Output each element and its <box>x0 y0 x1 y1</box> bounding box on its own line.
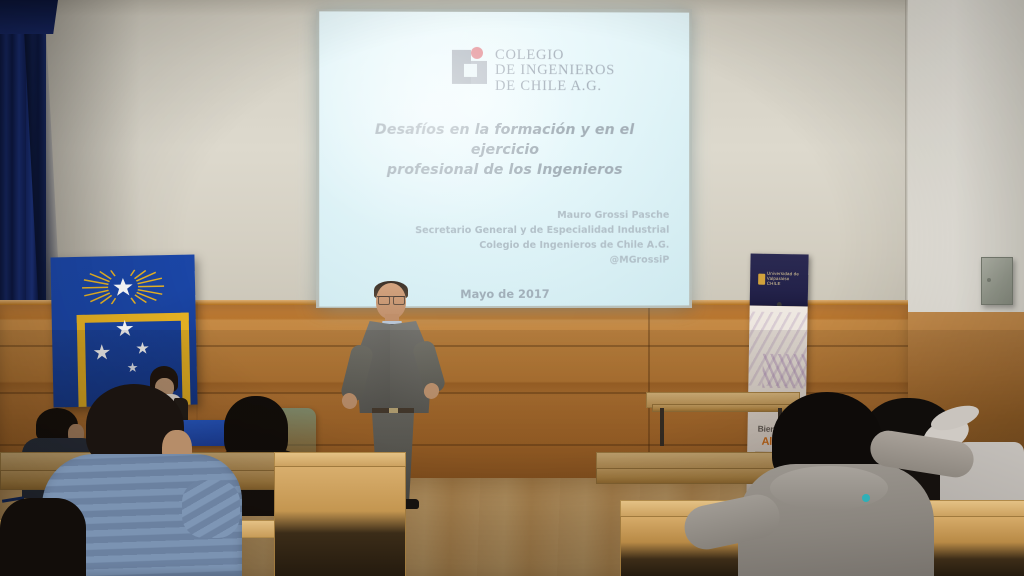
slide-author-handle: @MGrossiP <box>360 253 670 269</box>
slide-author-name: Mauro Grossi Pasche <box>360 208 670 224</box>
glasses-bridge <box>377 296 405 304</box>
slide-title: Desafíos en la formación y en el ejercic… <box>341 120 667 181</box>
attendee-hoodie <box>684 392 996 576</box>
flag-star: ★ <box>92 342 111 363</box>
logo-wordmark: COLEGIO DE INGENIEROS DE CHILE A.G. <box>495 47 615 94</box>
desk-lectern-body <box>274 466 406 576</box>
colegio-logo-icon <box>452 47 487 84</box>
logo-line-2: DE INGENIEROS <box>495 63 615 79</box>
curtain-top-fold <box>0 0 58 34</box>
slide-author-role: Secretario General y de Especialidad Ind… <box>360 223 670 239</box>
hoodie-hood <box>770 466 888 510</box>
rollup-logo-country: CHILE <box>767 281 808 287</box>
rollup-graphic <box>762 354 807 389</box>
attendee-foreground-shoulder <box>0 498 86 576</box>
slide-title-line-2: profesional de los Ingenieros <box>341 160 667 180</box>
projection-screen: COLEGIO DE INGENIEROS DE CHILE A.G. Desa… <box>319 11 689 306</box>
panel-latch-icon <box>987 278 991 282</box>
slide-author-org: Colegio de Ingenieros de Chile A.G. <box>360 238 670 254</box>
wall-corner <box>905 0 908 315</box>
slide-title-line-1: Desafíos en la formación y en el ejercic… <box>341 120 667 160</box>
crest-icon <box>758 273 765 284</box>
flag-star: ★ <box>115 318 135 340</box>
logo-line-1: COLEGIO <box>495 48 615 64</box>
slide-author-block: Mauro Grossi Pasche Secretario General y… <box>360 208 670 269</box>
universidad-logo: Universidad de Valparaíso CHILE <box>758 272 808 287</box>
rollup-header: Universidad de Valparaíso CHILE <box>750 254 809 307</box>
lecture-hall-scene: COLEGIO DE INGENIEROS DE CHILE A.G. Desa… <box>0 0 1024 576</box>
logo-dot-icon <box>471 47 483 59</box>
slide-logo: COLEGIO DE INGENIEROS DE CHILE A.G. <box>452 47 615 94</box>
logo-line-3: DE CHILE A.G. <box>495 79 615 95</box>
sunburst-icon <box>80 269 167 305</box>
hoodie-drawstring-tip <box>862 494 870 502</box>
desk-leg <box>660 408 664 446</box>
rollup-logo-text: Universidad de Valparaíso CHILE <box>767 272 809 287</box>
flag-star: ★ <box>135 341 150 357</box>
electrical-panel-box <box>981 257 1013 305</box>
